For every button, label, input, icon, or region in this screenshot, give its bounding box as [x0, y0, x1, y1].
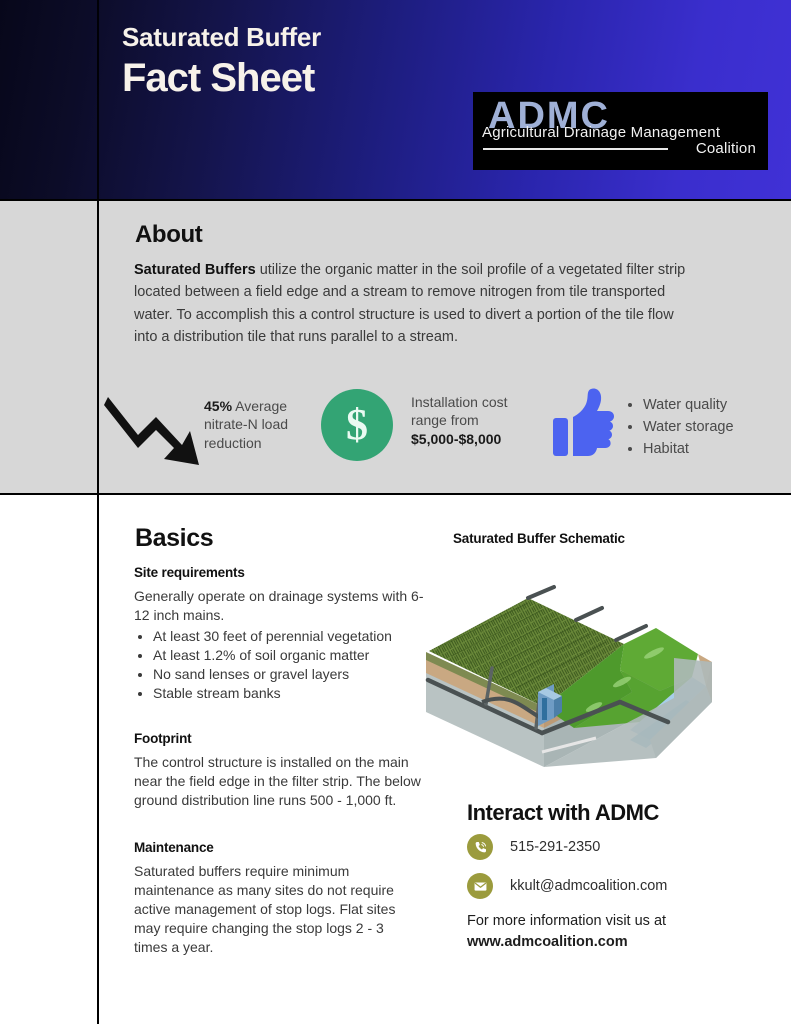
about-paragraph: Saturated Buffers utilize the organic ma…	[134, 259, 699, 349]
list-item: No sand lenses or gravel layers	[153, 665, 424, 684]
admc-logo: ADMC Agricultural Drainage Management Co…	[473, 92, 768, 170]
more-info-block: For more information visit us at www.adm…	[467, 911, 727, 953]
page-title-large: Fact Sheet	[122, 55, 321, 101]
admc-logo-tagline: Agricultural Drainage Management	[482, 124, 762, 141]
stats-row: 45% Average nitrate-N load reduction $ I…	[100, 381, 788, 481]
stat-cost-text: Installation cost range from $5,000-$8,0…	[411, 393, 541, 448]
schematic-title: Saturated Buffer Schematic	[453, 531, 625, 546]
benefits-list: Water quality Water storage Habitat	[627, 395, 791, 460]
page-vertical-rule	[97, 199, 99, 1024]
about-section: About Saturated Buffers utilize the orga…	[0, 199, 791, 495]
dollar-glyph: $	[346, 403, 368, 447]
contact-email-address[interactable]: kkult@admcoalition.com	[510, 878, 667, 894]
phone-icon	[467, 834, 493, 860]
site-requirements-title: Site requirements	[134, 565, 424, 580]
website-link[interactable]: www.admcoalition.com	[467, 934, 628, 950]
contact-phone-row[interactable]: 515-291-2350	[467, 834, 600, 860]
stat-cost-value: $5,000-$8,000	[411, 431, 501, 447]
basics-footprint: Footprint The control structure is insta…	[134, 731, 424, 810]
list-item: Water quality	[643, 395, 791, 417]
dollar-circle-icon: $	[321, 389, 393, 461]
basics-heading: Basics	[135, 524, 213, 553]
footprint-title: Footprint	[134, 731, 424, 746]
list-item: Habitat	[643, 439, 791, 461]
admc-logo-divider	[483, 148, 668, 150]
stat-reduction-text: 45% Average nitrate-N load reduction	[204, 397, 319, 452]
footprint-text: The control structure is installed on th…	[134, 753, 424, 810]
more-info-label: For more information visit us at	[467, 913, 666, 929]
about-lead-term: Saturated Buffers	[134, 262, 256, 278]
basics-maintenance: Maintenance Saturated buffers require mi…	[134, 840, 409, 957]
down-trend-arrow-icon	[104, 391, 204, 476]
site-requirements-bullets: At least 30 feet of perennial vegetation…	[134, 627, 424, 703]
list-item: At least 30 feet of perennial vegetation	[153, 627, 424, 646]
contact-phone-number[interactable]: 515-291-2350	[510, 839, 600, 855]
interact-heading: Interact with ADMC	[467, 800, 659, 826]
page-title-small: Saturated Buffer	[122, 22, 321, 53]
fact-sheet-page: Saturated Buffer Fact Sheet ADMC Agricul…	[0, 0, 791, 1024]
maintenance-title: Maintenance	[134, 840, 409, 855]
stat-cost-label: Installation cost range from	[411, 394, 508, 428]
site-requirements-body: Generally operate on drainage systems wi…	[134, 587, 424, 703]
header-title-block: Saturated Buffer Fact Sheet	[122, 22, 321, 101]
thumbs-up-icon	[552, 387, 614, 464]
envelope-icon	[467, 873, 493, 899]
list-item: Water storage	[643, 417, 791, 439]
admc-logo-coalition: Coalition	[696, 140, 756, 157]
stat-reduction-value: 45%	[204, 398, 232, 414]
saturated-buffer-schematic-icon	[424, 552, 714, 767]
page-header: Saturated Buffer Fact Sheet ADMC Agricul…	[0, 0, 791, 199]
maintenance-text: Saturated buffers require minimum mainte…	[134, 862, 409, 957]
about-heading: About	[135, 221, 202, 249]
list-item: At least 1.2% of soil organic matter	[153, 646, 424, 665]
list-item: Stable stream banks	[153, 684, 424, 703]
header-vertical-rule	[97, 0, 99, 199]
contact-email-row[interactable]: kkult@admcoalition.com	[467, 873, 667, 899]
site-requirements-text: Generally operate on drainage systems wi…	[134, 588, 423, 623]
basics-site-requirements: Site requirements Generally operate on d…	[134, 565, 424, 703]
